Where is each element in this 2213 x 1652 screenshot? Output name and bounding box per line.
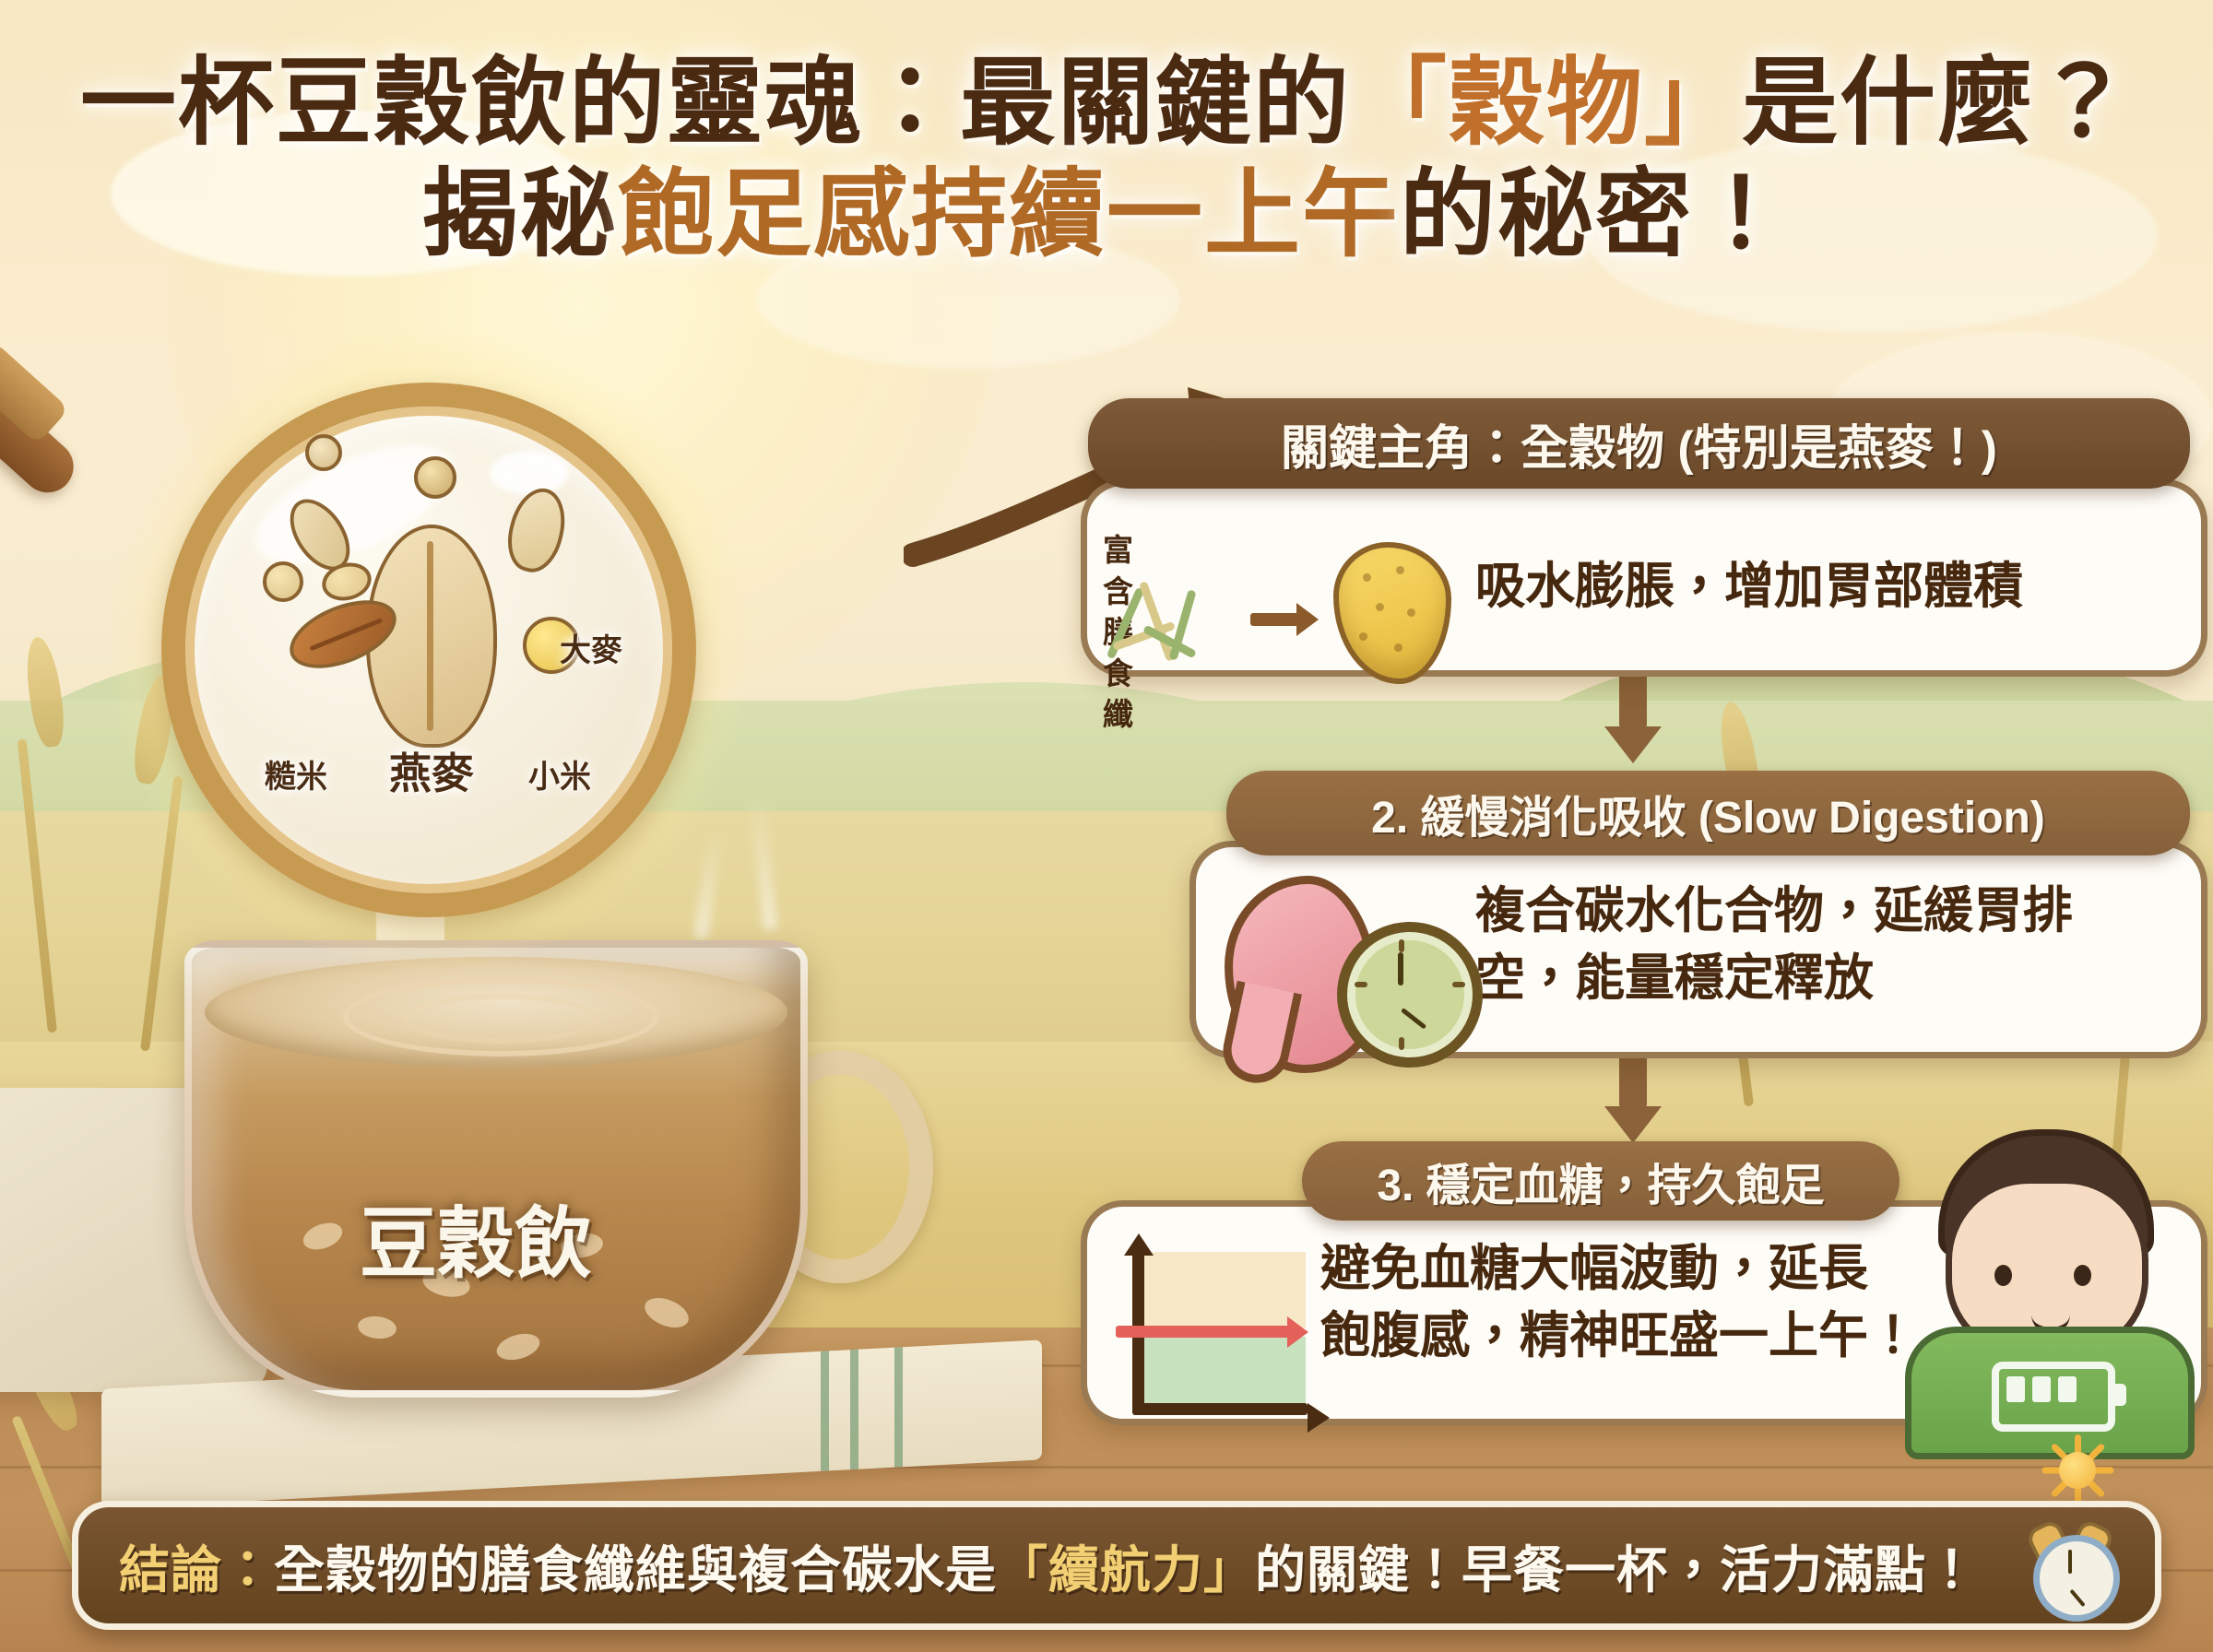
conclusion-prefix: 結論： [119, 1541, 274, 1599]
drink-cup: 豆穀飲 [157, 940, 839, 1457]
title-line-1: 一杯豆穀飲的靈魂：最關鍵的「穀物」是什麼？ [0, 48, 2213, 159]
flow-arrow-2-to-3 [1604, 1051, 1662, 1143]
panel-1-header[interactable]: 關鍵主角：全穀物 (特別是燕麥！) [1088, 398, 2190, 489]
grain-speck-icon [305, 434, 342, 471]
flow-arrow-1-to-2 [1604, 669, 1662, 763]
lens-highlight-small [490, 451, 569, 495]
person-battery-icon [1890, 1129, 2195, 1434]
title-line-2-part-b: 的秘密！ [1400, 161, 1791, 268]
label-brown-rice: 糙米 [265, 751, 327, 796]
conclusion-accent: 「續航力」 [997, 1541, 1255, 1599]
panel-3-header-label: 3. 穩定血糖，持久飽足 [1377, 1149, 1824, 1213]
panel-2-body-line-2: 空，能量穩定釋放 [1475, 945, 2176, 1012]
blood-sugar-graph-icon [1106, 1246, 1315, 1422]
alarm-clock-icon [2028, 1524, 2112, 1609]
panel-3-header[interactable]: 3. 穩定血糖，持久飽足 [1302, 1141, 1899, 1221]
label-millet: 小米 [528, 751, 591, 796]
panel-2-header[interactable]: 2. 緩慢消化吸收 (Slow Digestion) [1226, 771, 2190, 855]
title-line-1-part-b: 是什麼？ [1742, 50, 2133, 157]
battery-icon [1992, 1362, 2115, 1432]
fiber-icon [1112, 576, 1223, 665]
panel-1-header-label: 關鍵主角：全穀物 (特別是燕麥！) [1281, 409, 1997, 478]
grain-speck-icon [414, 456, 456, 499]
clock-icon [1337, 922, 1483, 1068]
panel-1-body: 吸水膨脹，增加胃部體積 [1475, 553, 2158, 620]
title-line-2-accent: 飽足感持續一上午 [618, 161, 1400, 268]
panel-2-header-label: 2. 緩慢消化吸收 (Slow Digestion) [1371, 781, 2045, 845]
conclusion-text: 結論：全穀物的膳食纖維與複合碳水是「續航力」的關鍵！早餐一杯，活力滿點！ [78, 1528, 1978, 1602]
grain-speck-icon [263, 561, 303, 602]
conclusion-mid-b: 的關鍵！早餐一杯，活力滿點！ [1255, 1541, 1978, 1599]
conclusion-banner: 結論：全穀物的膳食纖維與複合碳水是「續航力」的關鍵！早餐一杯，活力滿點！ [72, 1501, 2161, 1630]
title-line-1-accent: 「穀物」 [1351, 50, 1742, 157]
page-title: 一杯豆穀飲的靈魂：最關鍵的「穀物」是什麼？ 揭秘飽足感持續一上午的秘密！ [0, 48, 2213, 270]
barley-grain-icon [501, 482, 574, 577]
panel-2-body: 複合碳水化合物，延緩胃排 空，能量穩定釋放 [1475, 878, 2176, 1012]
title-line-1-part-a: 一杯豆穀飲的靈魂：最關鍵的 [80, 50, 1351, 157]
label-oat: 燕麥 [389, 740, 474, 801]
label-barley: 大麥 [560, 625, 622, 670]
cup-body [184, 940, 808, 1398]
title-line-2: 揭秘飽足感持續一上午的秘密！ [0, 159, 2213, 271]
conclusion-mid-a: 全穀物的膳食纖維與複合碳水是 [274, 1541, 997, 1599]
panel-3-body-line-2: 飽腹感，精神旺盛一上午！ [1320, 1303, 1929, 1370]
foam-surface [205, 957, 787, 1068]
title-line-2-part-a: 揭秘 [422, 161, 618, 268]
arrow-right-icon [1250, 613, 1298, 626]
cup-label: 豆穀飲 [236, 1182, 716, 1293]
panel-3-body: 避免血糖大幅波動，延長 飽腹感，精神旺盛一上午！ [1320, 1235, 1929, 1370]
panel-3-body-line-1: 避免血糖大幅波動，延長 [1320, 1235, 1929, 1303]
infographic-canvas: 一杯豆穀飲的靈魂：最關鍵的「穀物」是什麼？ 揭秘飽足感持續一上午的秘密！ 大麥 … [0, 0, 2213, 1652]
sunburst-icon [2041, 1434, 2113, 1506]
panel-2-body-line-1: 複合碳水化合物，延緩胃排 [1475, 878, 2176, 945]
